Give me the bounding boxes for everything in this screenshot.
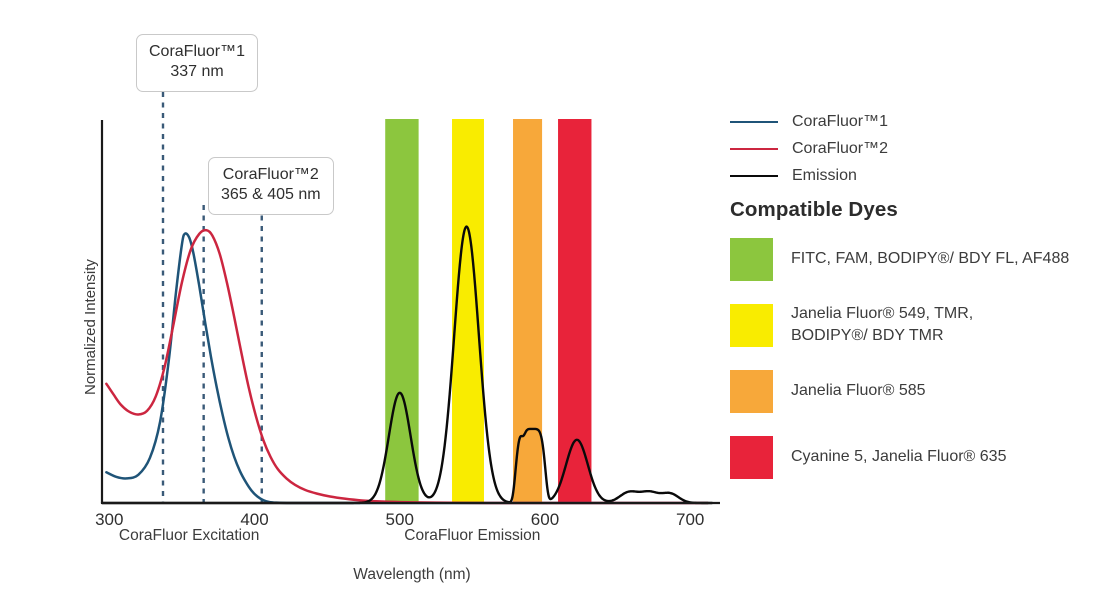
- legend-item: CoraFluor™2: [730, 135, 1100, 162]
- axis-region-sublabel: CoraFluor Excitation: [119, 527, 259, 545]
- legend-item-label: CoraFluor™1: [792, 113, 888, 131]
- axis-region-sublabel: CoraFluor Emission: [404, 527, 540, 545]
- dye-color-swatch: [730, 436, 773, 479]
- dye-label: FITC, FAM, BODIPY®/ BDY FL, AF488: [791, 248, 1069, 270]
- x-axis-title: Wavelength (nm): [353, 566, 470, 584]
- compatible-dyes-title: Compatible Dyes: [730, 198, 898, 222]
- dye-label-line1: Cyanine 5, Janelia Fluor® 635: [791, 448, 1006, 465]
- dye-list-item: Janelia Fluor® 549, TMR, BODIPY®/ BDY TM…: [730, 299, 1105, 351]
- callout-line2: 337 nm: [149, 62, 245, 82]
- dye-list-item: Janelia Fluor® 585: [730, 365, 1105, 417]
- legend-item-label: CoraFluor™2: [792, 140, 888, 158]
- x-tick-label: 700: [676, 510, 704, 530]
- spectral-figure: 300400500600700CoraFluor ExcitationCoraF…: [0, 0, 1110, 612]
- callout-corafluor2: CoraFluor™2 365 & 405 nm: [208, 157, 334, 215]
- dye-label-line2: BODIPY®/ BDY TMR: [791, 325, 973, 347]
- emission-band: [558, 119, 591, 503]
- legend-item: Emission: [730, 162, 1100, 189]
- compatible-dyes-list: FITC, FAM, BODIPY®/ BDY FL, AF488 Janeli…: [730, 233, 1105, 497]
- dye-label: Janelia Fluor® 549, TMR, BODIPY®/ BDY TM…: [791, 303, 973, 346]
- legend-line-swatch: [730, 148, 778, 150]
- dye-color-swatch: [730, 304, 773, 347]
- callout-line2: 365 & 405 nm: [221, 185, 321, 205]
- callout-line1: CoraFluor™1: [149, 43, 245, 60]
- dye-label-line1: FITC, FAM, BODIPY®/ BDY FL, AF488: [791, 250, 1069, 267]
- dye-label: Cyanine 5, Janelia Fluor® 635: [791, 446, 1006, 468]
- dye-list-item: Cyanine 5, Janelia Fluor® 635: [730, 431, 1105, 483]
- legend-item-label: Emission: [792, 167, 857, 185]
- legend-line-swatch: [730, 175, 778, 177]
- dye-label: Janelia Fluor® 585: [791, 380, 926, 402]
- dye-label-line1: Janelia Fluor® 549, TMR,: [791, 305, 973, 322]
- callout-line1: CoraFluor™2: [223, 166, 319, 183]
- callout-corafluor1: CoraFluor™1 337 nm: [136, 34, 258, 92]
- dye-label-line1: Janelia Fluor® 585: [791, 382, 926, 399]
- plot-area: 300400500600700CoraFluor ExcitationCoraF…: [0, 0, 740, 612]
- dye-color-swatch: [730, 238, 773, 281]
- legend-line-swatch: [730, 121, 778, 123]
- y-axis-title: Normalized Intensity: [82, 259, 99, 395]
- series-legend: CoraFluor™1 CoraFluor™2 Emission: [730, 108, 1100, 189]
- legend-item: CoraFluor™1: [730, 108, 1100, 135]
- dye-color-swatch: [730, 370, 773, 413]
- emission-band: [385, 119, 418, 503]
- dye-list-item: FITC, FAM, BODIPY®/ BDY FL, AF488: [730, 233, 1105, 285]
